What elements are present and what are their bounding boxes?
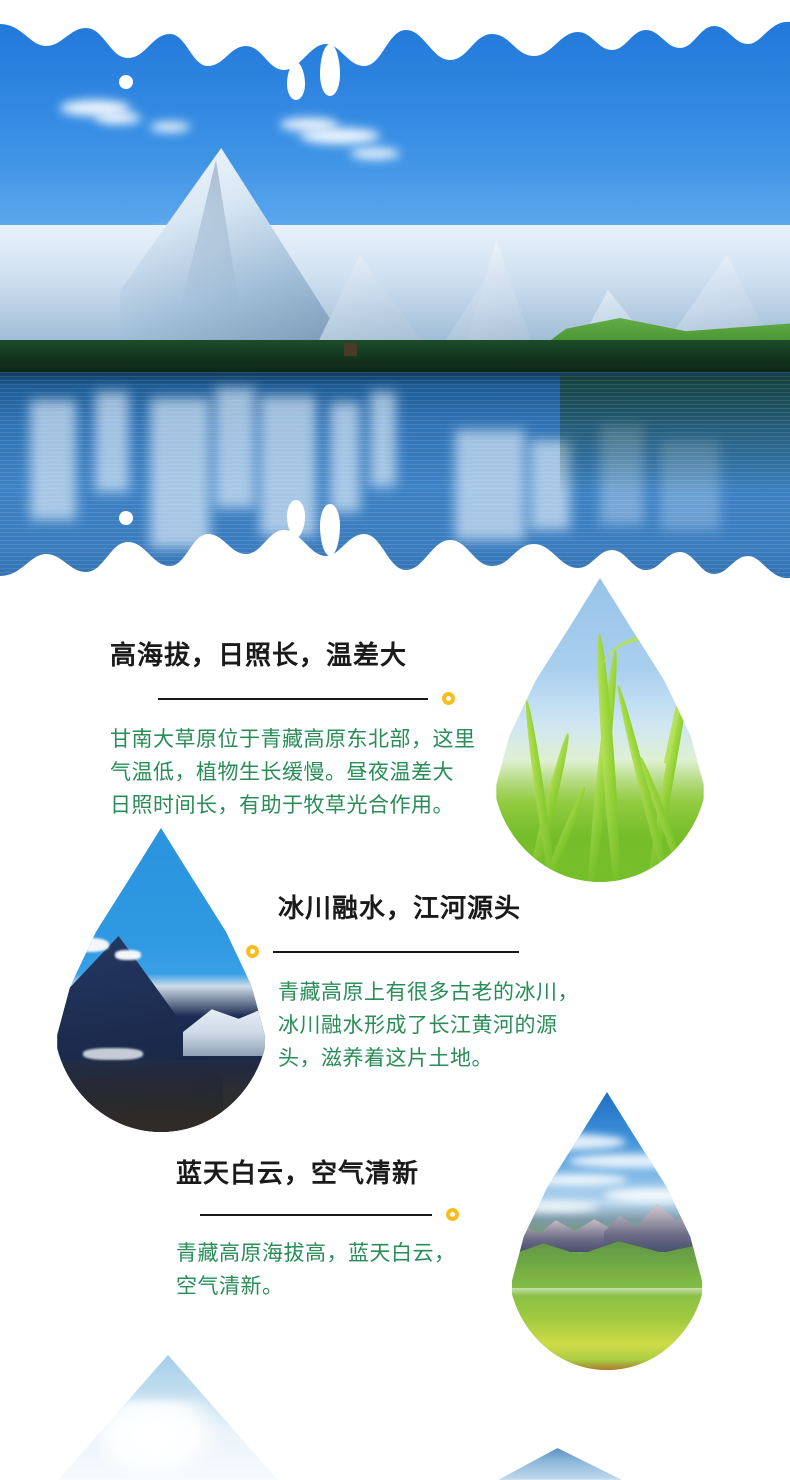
hero-banner <box>0 0 790 600</box>
mountain-foot <box>53 1060 269 1132</box>
feature-block-bluesky: 蓝天白云，空气清新 青藏高原海拔高，蓝天白云， 空气清新。 <box>176 1158 459 1303</box>
accent-dot-icon <box>442 692 455 705</box>
meadow-haze <box>508 1288 706 1296</box>
photo-grass-sky <box>492 578 708 882</box>
shoreline <box>0 340 790 376</box>
snow-patch <box>83 1048 143 1060</box>
teardrop-glacier-mountain-photo <box>53 828 269 1132</box>
feature-block-altitude: 高海拔，日照长，温差大 甘南大草原位于青藏高原东北部，这里 气温低，植物生长缓慢… <box>110 640 476 822</box>
title-underline-row <box>200 1208 459 1221</box>
cloud <box>528 1174 628 1186</box>
meadow-edge <box>508 1360 706 1370</box>
snow-patch <box>115 950 141 960</box>
hero-photo-snow-mountain-lake <box>0 0 790 600</box>
teardrop-grassland-mountain-photo <box>508 1092 706 1370</box>
cloud <box>568 1154 698 1168</box>
faded-peak-snow-glow <box>100 1400 220 1480</box>
cabin <box>344 343 357 356</box>
grass-density <box>492 762 708 882</box>
title-underline-row <box>246 945 579 958</box>
divider-line <box>273 951 519 953</box>
title-underline-row <box>158 692 476 705</box>
faded-mountain-peak-right <box>498 1448 622 1480</box>
accent-dot-icon <box>446 1208 459 1221</box>
product-detail-page: 高海拔，日照长，温差大 甘南大草原位于青藏高原东北部，这里 气温低，植物生长缓慢… <box>0 0 790 1480</box>
feature-body: 青藏高原上有很多古老的冰川， 冰川融水形成了长江黄河的源 头，滋养着这片土地。 <box>278 976 579 1075</box>
feature-title: 冰川融水，江河源头 <box>278 893 579 923</box>
water-ripples <box>0 372 790 600</box>
feature-title: 蓝天白云，空气清新 <box>176 1158 459 1188</box>
photo-glacier-mountain <box>53 828 269 1132</box>
teardrop-grass-sky-photo <box>492 578 708 882</box>
feature-block-glacier: 冰川融水，江河源头 青藏高原上有很多古老的冰川， 冰川融水形成了长江黄河的源 头… <box>278 893 579 1075</box>
accent-dot-icon <box>246 945 259 958</box>
cloud <box>518 1202 598 1212</box>
photo-grassland-mountain <box>508 1092 706 1370</box>
feature-body: 青藏高原海拔高，蓝天白云， 空气清新。 <box>176 1237 459 1303</box>
divider-line <box>200 1214 432 1216</box>
snow-patch <box>63 938 109 952</box>
cloud <box>604 1188 704 1202</box>
divider-line <box>158 698 428 700</box>
feature-body: 甘南大草原位于青藏高原东北部，这里 气温低，植物生长缓慢。昼夜温差大 日照时间长… <box>110 723 476 822</box>
snow-ridge <box>183 996 269 1056</box>
cloud <box>516 1134 626 1150</box>
feature-title: 高海拔，日照长，温差大 <box>110 640 476 670</box>
